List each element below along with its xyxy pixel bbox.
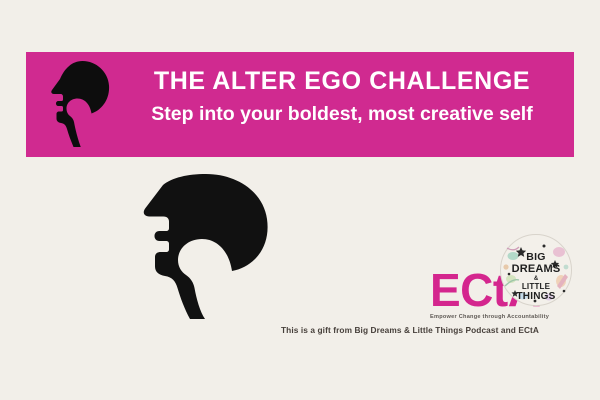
woman-afro-profile-silhouette [120,172,280,322]
page-subtitle: Step into your boldest, most creative se… [122,101,562,127]
badge-line-2: DREAMS [512,263,561,275]
page-title: THE ALTER EGO CHALLENGE [122,66,562,96]
woman-afro-profile-silhouette-icon [46,58,114,148]
footer-caption: This is a gift from Big Dreams & Little … [281,325,539,335]
ecta-tagline: Empower Change through Accountability [430,313,554,321]
badge-line-4: THINGS [517,291,556,302]
poster-canvas: THE ALTER EGO CHALLENGE Step into your b… [0,0,600,400]
banner-text-block: THE ALTER EGO CHALLENGE Step into your b… [122,66,562,127]
big-dreams-little-things-badge: BIG DREAMS & LITTLE THINGS [499,234,573,306]
badge-line-3: LITTLE [522,282,551,291]
badge-line-1: BIG [526,251,546,263]
header-banner: THE ALTER EGO CHALLENGE Step into your b… [26,52,574,157]
